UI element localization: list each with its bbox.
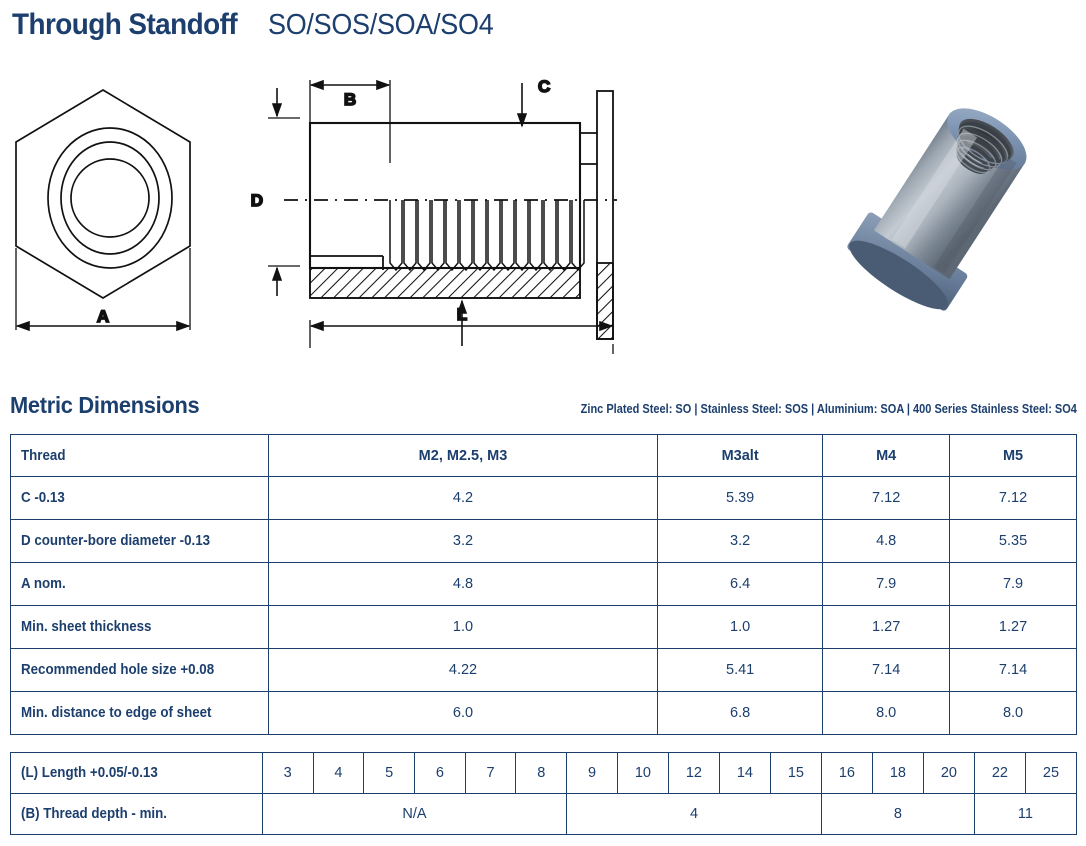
length-cell: 20 — [923, 753, 974, 794]
table-row: A nom. 4.8 6.4 7.9 7.9 — [11, 563, 1077, 606]
cell-value: 8.0 — [950, 692, 1077, 735]
length-cell: 10 — [617, 753, 668, 794]
thread-depth-cell: 11 — [974, 794, 1076, 835]
dim-table-body: Thread M2, M2.5, M3 M3alt M4 M5 C -0.13 … — [11, 435, 1077, 735]
cell-value: 1.0 — [658, 606, 823, 649]
cell-value: 7.12 — [950, 477, 1077, 520]
materials-legend: Zinc Plated Steel: SO | Stainless Steel:… — [581, 402, 1077, 416]
cell-value: 7.14 — [823, 649, 950, 692]
page-title: Through Standoff SO/SOS/SOA/SO4 — [12, 8, 510, 42]
cell-value: 8.0 — [823, 692, 950, 735]
len-table-body: (L) Length +0.05/-0.13 34567891012141516… — [11, 753, 1077, 835]
cell-value: 1.27 — [823, 606, 950, 649]
cell-value: 5.35 — [950, 520, 1077, 563]
title-main: Through Standoff — [12, 8, 237, 42]
column-header-m3alt: M3alt — [658, 435, 823, 477]
length-cell: 9 — [567, 753, 618, 794]
length-cell: 12 — [668, 753, 719, 794]
column-header-m4: M4 — [823, 435, 950, 477]
length-cell: 8 — [516, 753, 567, 794]
thread-depth-cell: N/A — [262, 794, 566, 835]
dim-label-d: D — [251, 191, 263, 210]
length-cell: 22 — [974, 753, 1025, 794]
dim-label-b: B — [344, 90, 356, 109]
cell-value: 1.0 — [269, 606, 658, 649]
cell-value: 7.14 — [950, 649, 1077, 692]
thread-depth-cell: 8 — [821, 794, 974, 835]
length-thread-depth-table: (L) Length +0.05/-0.13 34567891012141516… — [10, 752, 1077, 835]
column-header-m5: M5 — [950, 435, 1077, 477]
column-header-thread: Thread — [11, 435, 269, 477]
metric-dimensions-table: Thread M2, M2.5, M3 M3alt M4 M5 C -0.13 … — [10, 434, 1077, 735]
metric-dimensions-heading: Metric Dimensions — [10, 392, 199, 419]
table-header-row: Thread M2, M2.5, M3 M3alt M4 M5 — [11, 435, 1077, 477]
cell-value: 7.9 — [823, 563, 950, 606]
column-header-m2: M2, M2.5, M3 — [269, 435, 658, 477]
length-cell: 25 — [1025, 753, 1076, 794]
table-row: Recommended hole size +0.08 4.22 5.41 7.… — [11, 649, 1077, 692]
row-label-thread-depth: (B) Thread depth - min. — [11, 794, 263, 835]
length-cell: 15 — [770, 753, 821, 794]
cell-value: 4.8 — [269, 563, 658, 606]
length-cell: 5 — [364, 753, 415, 794]
title-codes: SO/SOS/SOA/SO4 — [268, 9, 493, 42]
dim-label-l: L — [457, 305, 467, 324]
length-cell: 3 — [262, 753, 313, 794]
table-row: D counter-bore diameter -0.13 3.2 3.2 4.… — [11, 520, 1077, 563]
length-cell: 4 — [313, 753, 364, 794]
hex-front-view — [16, 90, 190, 330]
dim-label-c: C — [538, 77, 550, 96]
cell-value: 5.41 — [658, 649, 823, 692]
length-cell: 14 — [719, 753, 770, 794]
thread-depth-cell: 4 — [567, 794, 822, 835]
dim-label-a: A — [97, 307, 109, 326]
cell-value: 6.4 — [658, 563, 823, 606]
cell-value: 3.2 — [269, 520, 658, 563]
standoff-photo-svg — [795, 72, 1080, 357]
thread-depth-row: (B) Thread depth - min. N/A4811 — [11, 794, 1077, 835]
cross-section-view — [268, 80, 617, 354]
cell-value: 7.12 — [823, 477, 950, 520]
row-label: D counter-bore diameter -0.13 — [11, 520, 269, 563]
table-row: Min. distance to edge of sheet 6.0 6.8 8… — [11, 692, 1077, 735]
row-label: Min. distance to edge of sheet — [11, 692, 269, 735]
cell-value: 1.27 — [950, 606, 1077, 649]
row-label: A nom. — [11, 563, 269, 606]
row-label: Recommended hole size +0.08 — [11, 649, 269, 692]
cell-value: 3.2 — [658, 520, 823, 563]
cell-value: 4.22 — [269, 649, 658, 692]
product-photo — [795, 72, 1080, 357]
cell-value: 5.39 — [658, 477, 823, 520]
cell-value: 7.9 — [950, 563, 1077, 606]
length-cell: 7 — [465, 753, 516, 794]
row-label: C -0.13 — [11, 477, 269, 520]
table-row: Min. sheet thickness 1.0 1.0 1.27 1.27 — [11, 606, 1077, 649]
length-row: (L) Length +0.05/-0.13 34567891012141516… — [11, 753, 1077, 794]
length-cell: 16 — [821, 753, 872, 794]
row-label: Min. sheet thickness — [11, 606, 269, 649]
cell-value: 4.2 — [269, 477, 658, 520]
cell-value: 4.8 — [823, 520, 950, 563]
cell-value: 6.0 — [269, 692, 658, 735]
row-label-length: (L) Length +0.05/-0.13 — [11, 753, 263, 794]
table-row: C -0.13 4.2 5.39 7.12 7.12 — [11, 477, 1077, 520]
length-cell: 18 — [872, 753, 923, 794]
length-cell: 6 — [415, 753, 466, 794]
cell-value: 6.8 — [658, 692, 823, 735]
